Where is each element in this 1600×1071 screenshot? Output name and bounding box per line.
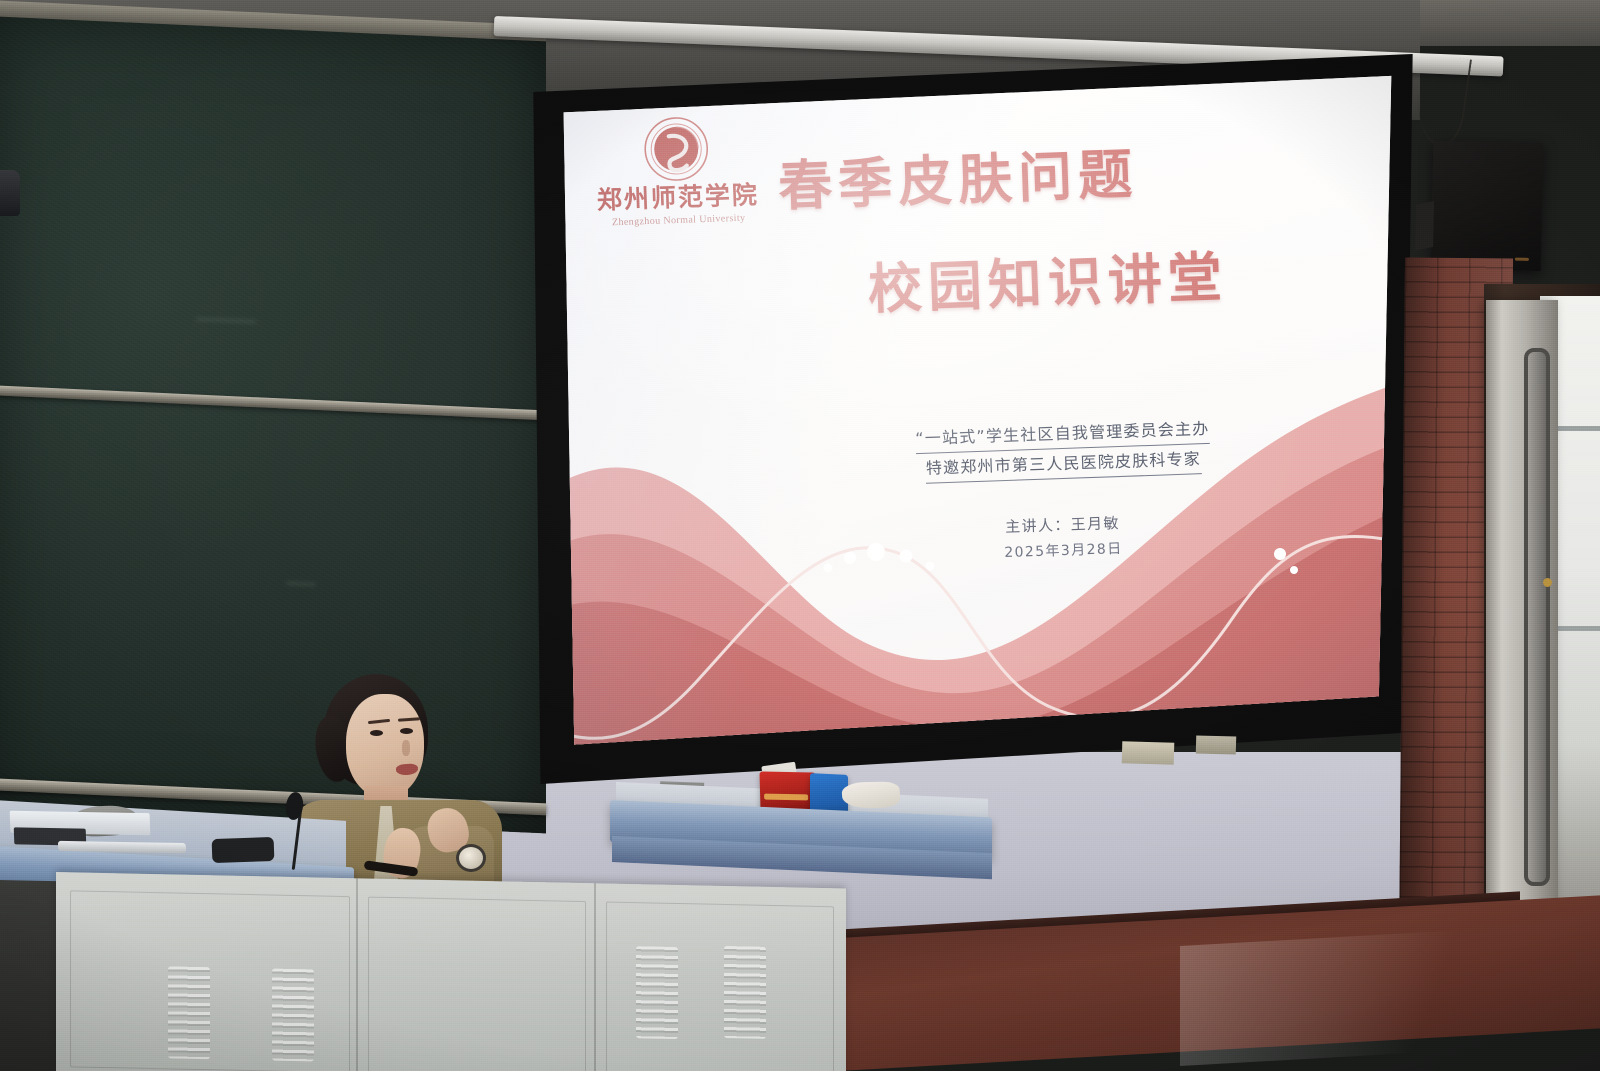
wall-plate <box>1196 735 1236 754</box>
slide-title-line-2: 校园知识讲堂 <box>867 245 1393 317</box>
podium-vent-louver <box>636 946 678 1039</box>
presentation-slide: 郑州师范学院 Zhengzhou Normal University 春季皮肤问… <box>528 54 1418 784</box>
university-name-en: Zhengzhou Normal University <box>584 212 774 230</box>
door-lock-icon[interactable] <box>1543 578 1552 587</box>
white-tissue-pack <box>841 781 901 808</box>
office-chair <box>0 170 20 216</box>
projection-screen-canvas: 郑州师范学院 Zhengzhou Normal University 春季皮肤问… <box>528 54 1418 784</box>
wall-plate <box>1122 741 1175 764</box>
podium-door-panel[interactable] <box>368 897 586 1071</box>
speaker-bracket <box>1415 201 1434 250</box>
person-eye <box>400 728 413 734</box>
slide-subtitle-line-2: 特邀郑州市第三人民医院皮肤科专家 <box>925 447 1201 483</box>
door-handle[interactable] <box>1524 348 1550 886</box>
wall-speaker <box>1431 141 1544 271</box>
podium-shadow-side <box>0 880 60 1071</box>
person-eye <box>370 730 383 736</box>
university-logo: 郑州师范学院 Zhengzhou Normal University <box>580 113 774 230</box>
speaker-led-icon <box>1515 258 1529 261</box>
podium-vent-louver <box>724 946 766 1039</box>
podium-vent-louver <box>272 969 314 1062</box>
person-nose <box>402 740 410 756</box>
projection-screen-frame: 郑州师范学院 Zhengzhou Normal University 春季皮肤问… <box>528 54 1418 784</box>
lecture-hall-scene: 郑州师范学院 Zhengzhou Normal University 春季皮肤问… <box>0 0 1600 1071</box>
podium-vent-louver <box>168 966 210 1059</box>
slide-title-line-1: 春季皮肤问题 <box>777 139 1389 214</box>
podium-cabinet <box>56 872 846 1071</box>
wristwatch <box>456 844 486 872</box>
university-name-cn: 郑州师范学院 <box>583 183 774 216</box>
floor-light-reflection <box>1180 923 1600 1066</box>
desk-black-case <box>212 837 275 863</box>
person-face <box>346 694 424 798</box>
university-emblem-icon <box>642 115 710 183</box>
slide-title-group: 春季皮肤问题 校园知识讲堂 <box>747 139 1392 321</box>
